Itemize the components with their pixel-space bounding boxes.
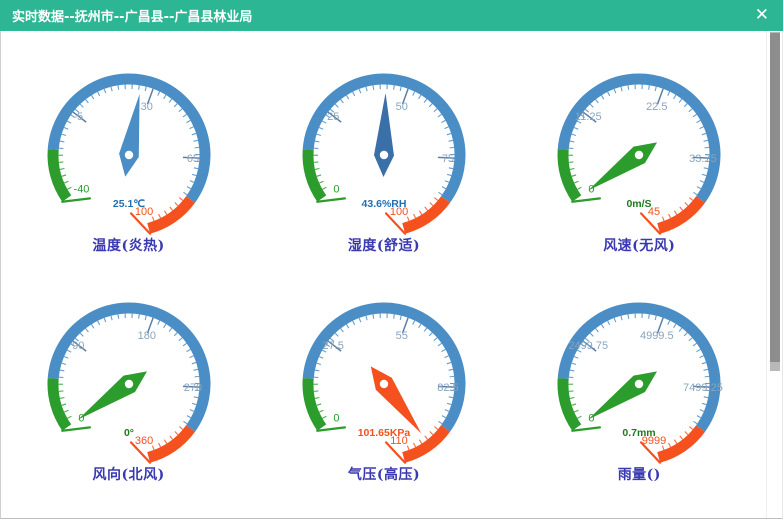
gauge-minor-tick: [608, 321, 610, 325]
gauge-tick-label: 0: [589, 183, 595, 195]
gauge-minor-tick: [61, 404, 65, 405]
gauge-tick-label: -40: [73, 183, 89, 195]
gauge-minor-tick: [444, 356, 448, 358]
window-body: -40-5306510025.1℃温度(炎热)025507510043.6%RH…: [0, 31, 783, 519]
gauge-minor-tick: [315, 141, 319, 142]
gauge-minor-tick: [183, 343, 187, 346]
gauge-minor-tick: [319, 127, 323, 129]
gauge-cell-wind-direction[interactable]: 0901802703600°风向(北风): [1, 266, 256, 495]
gauge-tick-label: 65: [186, 153, 198, 165]
gauge-cell-partial[interactable]: [256, 495, 511, 519]
gauge-value-text: 0°: [124, 427, 134, 439]
gauge-arc-high: [148, 429, 190, 458]
gauge-grid: -40-5306510025.1℃温度(炎热)025507510043.6%RH…: [1, 31, 767, 519]
gauge-minor-tick: [574, 356, 578, 358]
gauge-cell-partial[interactable]: [512, 495, 767, 519]
gauge-minor-tick: [424, 99, 427, 103]
scroll-down-arrow-icon[interactable]: [770, 362, 780, 371]
gauge-minor-tick: [64, 127, 68, 129]
gauge-minor-tick: [178, 109, 181, 112]
gauge-minor-tick: [444, 127, 448, 129]
gauge-minor-tick: [61, 175, 65, 176]
gauge-tick-label: 30: [140, 101, 152, 113]
gauge-minor-tick: [189, 356, 193, 358]
gauge-minor-tick: [373, 314, 374, 318]
gauge-minor-tick: [684, 104, 687, 107]
gauge-minor-tick: [702, 133, 706, 134]
gauge-minor-tick: [413, 92, 415, 96]
gauge-arc-low: [53, 150, 67, 199]
gauge-minor-tick: [60, 141, 64, 142]
gauge-minor-tick: [183, 192, 187, 195]
gauge-tick-label: 0: [78, 412, 84, 424]
gauge-minor-tick: [449, 369, 453, 370]
gauge-value-text: 101.65KPa: [358, 427, 411, 439]
gauge-minor-tick: [602, 95, 604, 99]
gauge-minor-tick: [430, 431, 433, 434]
gauge-minor-tick: [138, 85, 139, 89]
gauge-minor-tick: [680, 436, 683, 440]
gauge-tick-label: -5: [73, 111, 83, 123]
gauge-minor-tick: [193, 397, 197, 398]
gauge-minor-tick: [668, 321, 670, 325]
gauge-minor-tick: [442, 416, 446, 418]
gauge-minor-tick: [434, 109, 437, 112]
gauge-scroll-viewport: -40-5306510025.1℃温度(炎热)025507510043.6%RH…: [1, 31, 767, 519]
gauge-minor-tick: [704, 168, 708, 169]
gauge-minor-tick: [191, 362, 195, 363]
gauge-minor-tick: [64, 181, 68, 183]
gauge-minor-tick: [394, 85, 395, 89]
gauge-minor-tick: [441, 349, 445, 351]
gauge-minor-tick: [602, 324, 604, 328]
gauge-minor-tick: [621, 316, 622, 320]
gauge-minor-tick: [429, 104, 432, 107]
gauge-minor-tick: [335, 333, 338, 336]
gauge-arc-normal: [53, 308, 205, 429]
gauge-minor-tick: [191, 133, 195, 134]
gauge-minor-tick: [694, 192, 698, 195]
gauge-minor-tick: [649, 85, 650, 89]
gauge-tick-label: 33.75: [689, 153, 717, 165]
gauge-minor-tick: [175, 431, 178, 434]
gauge-minor-tick: [615, 89, 617, 93]
gauge-minor-tick: [319, 356, 323, 358]
gauge-minor-tick: [570, 397, 574, 398]
gauge-minor-tick: [64, 356, 68, 358]
gauge-minor-tick: [570, 141, 574, 142]
gauge-rainfall: 02499.754999.57499.2599990.7mm: [524, 266, 754, 466]
gauge-minor-tick: [157, 92, 159, 96]
gauge-minor-tick: [425, 436, 428, 440]
gauge-minor-tick: [447, 133, 451, 134]
gauge-needle-hub: [380, 151, 388, 159]
gauge-tick-label: 25: [327, 111, 339, 123]
gauge-minor-tick: [163, 324, 165, 328]
gauge-minor-tick: [434, 338, 437, 341]
gauge-tick-label: 55: [396, 330, 408, 342]
gauge-tick-label: 11.25: [575, 111, 602, 123]
gauge-cell-pressure[interactable]: 027.55582.5110101.65KPa气压(高压): [256, 266, 511, 495]
gauge-minor-tick: [693, 114, 697, 117]
gauge-minor-tick: [615, 318, 617, 322]
gauge-arc-normal: [308, 308, 460, 429]
gauge-minor-tick: [169, 99, 172, 103]
gauge-minor-tick: [572, 363, 576, 364]
gauge-minor-tick: [317, 134, 321, 135]
gauge-minor-tick: [118, 314, 119, 318]
gauge-needle-hub: [380, 380, 388, 388]
gauge-minor-tick: [675, 440, 677, 444]
gauge-tick-label: 2499.75: [569, 340, 609, 352]
gauge-minor-tick: [353, 92, 355, 96]
gauge-minor-tick: [702, 362, 706, 363]
gauge-minor-tick: [572, 404, 576, 405]
gauge-partial-arc: [14, 495, 244, 519]
gauge-minor-tick: [319, 181, 323, 183]
gauge-minor-tick: [85, 99, 88, 103]
gauge-needle: [374, 93, 394, 177]
gauge-arc-low: [563, 150, 577, 199]
gauge-minor-tick: [164, 211, 166, 215]
gauge-tail-low: [573, 427, 601, 430]
gauge-minor-tick: [157, 321, 159, 325]
gauge-minor-tick: [656, 87, 657, 91]
gauge-minor-tick: [419, 95, 421, 99]
gauge-minor-tick: [60, 397, 64, 398]
gauge-needle: [589, 142, 658, 190]
gauge-minor-tick: [704, 140, 708, 141]
gauge-minor-tick: [67, 187, 71, 189]
gauge-minor-tick: [97, 92, 99, 96]
gauge-minor-tick: [179, 198, 182, 201]
gauge-minor-tick: [697, 416, 701, 418]
gauge-value-text: 25.1℃: [113, 198, 145, 210]
gauge-minor-tick: [704, 397, 708, 398]
gauge-minor-tick: [447, 403, 451, 404]
gauge-minor-tick: [447, 174, 451, 175]
gauge-minor-tick: [685, 202, 688, 205]
gauge-wind-speed: 011.2522.533.75450m/S: [524, 37, 754, 237]
gauge-minor-tick: [447, 362, 451, 363]
gauge-value-text: 0m/S: [627, 198, 652, 210]
gauge-arc-normal: [564, 79, 716, 200]
gauge-minor-tick: [187, 416, 191, 418]
gauge-minor-tick: [572, 175, 576, 176]
gauge-minor-tick: [689, 338, 692, 341]
gauge-minor-tick: [97, 321, 99, 325]
gauge-tick-label: 90: [72, 340, 84, 352]
gauge-minor-tick: [649, 314, 650, 318]
gauge-label-pressure: 气压(高压): [348, 464, 420, 484]
gauge-arc-low: [308, 379, 322, 428]
gauge-needle: [371, 366, 422, 433]
gauge-minor-tick: [445, 410, 449, 412]
gauge-minor-tick: [697, 120, 701, 122]
gauge-minor-tick: [346, 324, 348, 328]
scrollbar-thumb[interactable]: [770, 33, 780, 371]
gauge-minor-tick: [158, 443, 160, 447]
gauge-minor-tick: [596, 99, 599, 103]
gauge-minor-tick: [449, 397, 453, 398]
gauge-arc-high: [148, 200, 190, 229]
gauge-minor-tick: [414, 214, 416, 218]
gauge-minor-tick: [118, 85, 119, 89]
gauge-minor-tick: [178, 338, 181, 341]
gauge-minor-tick: [697, 349, 701, 351]
gauge-tick-label: 82.5: [437, 382, 458, 394]
gauge-minor-tick: [186, 120, 190, 122]
gauge-minor-tick: [690, 427, 693, 430]
gauge-needle: [119, 94, 140, 177]
gauge-wind-direction: 0901802703600°: [14, 266, 244, 466]
window-title: 实时数据--抚州市--广昌县--广昌县林业局: [12, 6, 252, 25]
gauge-label-wind-speed: 风速(无风): [603, 235, 675, 255]
gauge-minor-tick: [685, 431, 688, 434]
gauge-tick-label: 27.5: [322, 340, 343, 352]
gauge-minor-tick: [183, 421, 187, 424]
gauge-minor-tick: [322, 121, 326, 123]
gauge-needle-hub: [635, 151, 643, 159]
gauge-minor-tick: [104, 318, 106, 322]
gauge-minor-tick: [175, 202, 178, 205]
gauge-minor-tick: [419, 324, 421, 328]
gauge-value-text: 43.6%RH: [362, 198, 407, 210]
gauge-minor-tick: [183, 114, 187, 117]
gauge-minor-tick: [441, 120, 445, 122]
gauge-pressure: 027.55582.5110101.65KPa: [269, 266, 499, 466]
gauge-minor-tick: [189, 127, 193, 129]
gauge-minor-tick: [668, 92, 670, 96]
gauge-minor-tick: [656, 316, 657, 320]
gauge-minor-tick: [193, 168, 197, 169]
gauge-arc-high: [659, 200, 701, 229]
gauge-minor-tick: [680, 207, 683, 211]
gauge-minor-tick: [61, 134, 65, 135]
gauge-minor-tick: [319, 410, 323, 412]
gauge-minor-tick: [413, 321, 415, 325]
gauge-label-humidity: 湿度(舒适): [348, 235, 420, 255]
gauge-minor-tick: [164, 440, 166, 444]
gauge-minor-tick: [621, 87, 622, 91]
gauge-tick-label: 7499.25: [683, 382, 723, 394]
gauge-minor-tick: [591, 104, 594, 107]
gauge-minor-tick: [322, 187, 326, 189]
gauge-minor-tick: [596, 328, 599, 332]
gauge-minor-tick: [419, 211, 421, 215]
gauge-minor-tick: [704, 369, 708, 370]
gauge-minor-tick: [449, 140, 453, 141]
gauge-cell-rainfall[interactable]: 02499.754999.57499.2599990.7mm雨量(): [512, 266, 767, 495]
gauge-minor-tick: [192, 174, 196, 175]
gauge-cell-wind-speed[interactable]: 011.2522.533.75450m/S风速(无风): [512, 37, 767, 266]
gauge-minor-tick: [438, 192, 442, 195]
gauge-minor-tick: [341, 328, 344, 332]
vertical-scrollbar[interactable]: [766, 31, 782, 519]
gauge-tail-low: [573, 198, 601, 201]
gauge-minor-tick: [193, 369, 197, 370]
gauge-cell-temperature[interactable]: -40-5306510025.1℃温度(炎热): [1, 37, 256, 266]
gauge-minor-tick: [575, 181, 579, 183]
gauge-tail-low: [62, 427, 90, 430]
gauge-partial-arc: [269, 495, 499, 519]
gauge-tick-label: 270: [183, 382, 201, 394]
gauge-minor-tick: [317, 404, 321, 405]
gauge-tick-label: 50: [396, 101, 408, 113]
gauge-arc-low: [563, 379, 577, 428]
gauge-minor-tick: [346, 95, 348, 99]
gauge-minor-tick: [690, 198, 693, 201]
gauge-tick-label: 22.5: [646, 101, 667, 113]
gauge-minor-tick: [438, 114, 442, 117]
gauge-minor-tick: [145, 87, 146, 91]
gauge-humidity: 025507510043.6%RH: [269, 37, 499, 237]
gauge-minor-tick: [700, 356, 704, 358]
gauge-minor-tick: [315, 397, 319, 398]
gauge-minor-tick: [449, 168, 453, 169]
gauge-minor-tick: [359, 89, 361, 93]
gauge-minor-tick: [80, 104, 83, 107]
gauge-minor-tick: [138, 314, 139, 318]
gauge-tail-low: [317, 198, 345, 201]
gauge-minor-tick: [61, 363, 65, 364]
gauge-minor-tick: [414, 443, 416, 447]
gauge-label-temperature: 温度(炎热): [93, 235, 165, 255]
gauge-minor-tick: [608, 92, 610, 96]
gauge-minor-tick: [67, 350, 71, 352]
gauge-minor-tick: [193, 140, 197, 141]
gauge-minor-tick: [434, 427, 437, 430]
gauge-needle: [589, 371, 658, 419]
gauge-tick-label: 0: [333, 183, 339, 195]
gauge-minor-tick: [179, 427, 182, 430]
gauge-minor-tick: [419, 440, 421, 444]
gauge-needle-hub: [635, 380, 643, 388]
gauge-minor-tick: [158, 214, 160, 218]
gauge-minor-tick: [322, 416, 326, 418]
gauge-minor-tick: [700, 181, 704, 183]
gauge-minor-tick: [575, 410, 579, 412]
gauge-tick-label: 4999.5: [640, 330, 674, 342]
gauge-minor-tick: [67, 416, 71, 418]
gauge-minor-tick: [445, 181, 449, 183]
gauge-minor-tick: [679, 99, 682, 103]
gauge-minor-tick: [60, 370, 64, 371]
gauge-arc-normal: [564, 308, 716, 429]
gauge-minor-tick: [169, 328, 172, 332]
gauge-minor-tick: [438, 421, 442, 424]
gauge-minor-tick: [366, 316, 367, 320]
gauge-needle-hub: [124, 380, 132, 388]
gauge-minor-tick: [91, 324, 93, 328]
gauge-minor-tick: [679, 328, 682, 332]
gauge-minor-tick: [674, 95, 676, 99]
close-icon[interactable]: ✕: [755, 7, 769, 24]
gauge-minor-tick: [425, 207, 428, 211]
gauge-minor-tick: [186, 349, 190, 351]
window-titlebar: 实时数据--抚州市--广昌县--广昌县林业局 ✕: [0, 0, 783, 31]
gauge-minor-tick: [674, 324, 676, 328]
gauge-minor-tick: [366, 87, 367, 91]
gauge-minor-tick: [111, 316, 112, 320]
gauge-minor-tick: [145, 316, 146, 320]
gauge-tick-label: 180: [137, 330, 155, 342]
gauge-minor-tick: [669, 443, 671, 447]
gauge-minor-tick: [104, 89, 106, 93]
gauge-minor-tick: [91, 95, 93, 99]
gauge-label-rainfall: 雨量(): [618, 464, 661, 484]
gauge-minor-tick: [341, 99, 344, 103]
gauge-minor-tick: [574, 127, 578, 129]
gauge-minor-tick: [684, 333, 687, 336]
gauge-arc-low: [53, 379, 67, 428]
gauge-cell-partial[interactable]: [1, 495, 256, 519]
gauge-minor-tick: [189, 410, 193, 412]
gauge-tick-label: 360: [134, 435, 152, 447]
gauge-minor-tick: [315, 168, 319, 169]
gauge-minor-tick: [591, 333, 594, 336]
gauge-minor-tick: [394, 314, 395, 318]
gauge-minor-tick: [64, 410, 68, 412]
gauge-minor-tick: [434, 198, 437, 201]
gauge-minor-tick: [317, 175, 321, 176]
gauge-arc-high: [404, 200, 446, 229]
gauge-minor-tick: [570, 370, 574, 371]
gauge-minor-tick: [317, 363, 321, 364]
gauge-minor-tick: [628, 85, 629, 89]
gauge-minor-tick: [169, 207, 172, 211]
gauge-needle: [78, 371, 147, 419]
gauge-minor-tick: [702, 403, 706, 404]
gauge-minor-tick: [693, 343, 697, 346]
gauge-minor-tick: [697, 187, 701, 189]
gauge-minor-tick: [174, 333, 177, 336]
gauge-cell-humidity[interactable]: 025507510043.6%RH湿度(舒适): [256, 37, 511, 266]
gauge-minor-tick: [578, 416, 582, 418]
gauge-minor-tick: [373, 85, 374, 89]
gauge-minor-tick: [694, 421, 698, 424]
gauge-minor-tick: [174, 104, 177, 107]
gauge-minor-tick: [702, 174, 706, 175]
gauge-minor-tick: [675, 211, 677, 215]
gauge-minor-tick: [192, 403, 196, 404]
gauge-minor-tick: [628, 314, 629, 318]
gauge-tick-label: 0: [589, 412, 595, 424]
gauge-minor-tick: [67, 121, 71, 123]
gauge-minor-tick: [353, 321, 355, 325]
gauge-value-text: 0.7mm: [623, 427, 656, 439]
gauge-partial-arc: [524, 495, 754, 519]
gauge-tick-label: 0: [333, 412, 339, 424]
gauge-minor-tick: [700, 410, 704, 412]
gauge-minor-tick: [400, 87, 401, 91]
gauge-minor-tick: [424, 328, 427, 332]
gauge-minor-tick: [578, 187, 582, 189]
gauge-tick-label: 75: [442, 153, 454, 165]
realtime-data-window: 实时数据--抚州市--广昌县--广昌县林业局 ✕ -40-5306510025.…: [0, 0, 783, 519]
gauge-minor-tick: [430, 202, 433, 205]
gauge-minor-tick: [85, 328, 88, 332]
gauge-minor-tick: [359, 318, 361, 322]
gauge-minor-tick: [60, 168, 64, 169]
gauge-minor-tick: [700, 127, 704, 129]
gauge-minor-tick: [187, 187, 191, 189]
gauge-label-wind-direction: 风向(北风): [93, 464, 165, 484]
gauge-minor-tick: [169, 436, 172, 440]
gauge-tail-low: [317, 427, 345, 430]
gauge-minor-tick: [335, 104, 338, 107]
gauge-minor-tick: [572, 134, 576, 135]
